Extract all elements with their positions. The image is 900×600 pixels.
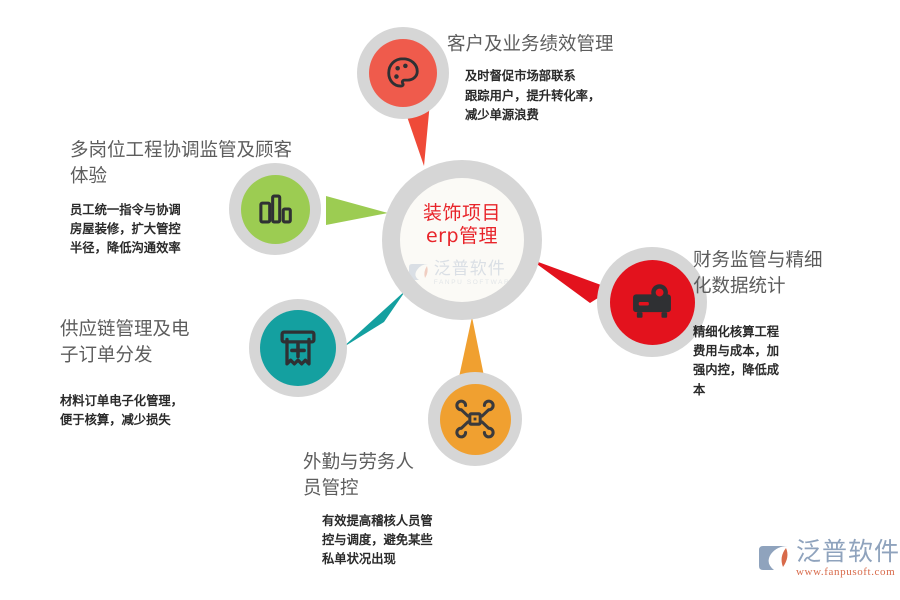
node-head-multipost: 多岗位工程协调监管及顾客 体验 [70,138,360,191]
text-block-multipost: 多岗位工程协调监管及顾客 体验 员工统一指令与协调 房屋装修，扩大管控 半径，降… [70,138,360,259]
text-block-supply: 供应链管理及电 子订单分发 材料订单电子化管理， 便于核算，减少损失 [60,317,270,430]
fanpu-logo-mark-icon [757,544,791,574]
drone-icon [455,399,495,439]
projector-icon [628,278,676,326]
node-disc-field [440,384,511,455]
fanpu-logo-mark [408,263,430,283]
hub-watermark: 泛普软件 FANPU SOFTWARE [400,261,524,287]
node-bubble-customer[interactable] [357,27,449,119]
node-bubble-finance[interactable] [597,247,707,357]
node-body-multipost: 员工统一指令与协调 房屋装修，扩大管控 半径，降低沟通效率 [70,201,360,259]
node-head-field: 外勤与劳务人 员管控 [303,450,518,503]
center-hub-inner: 装饰项目 erp管理 泛普软件 FANPU SOFTWARE [400,178,524,302]
receipt-plus-icon [276,326,320,370]
node-disc-finance [610,260,695,345]
center-hub-title: 装饰项目 erp管理 [423,202,501,248]
arrow-supply-to-hub [340,288,412,356]
center-hub: 装饰项目 erp管理 泛普软件 FANPU SOFTWARE [382,160,542,320]
fanpu-logo: 泛普软件 www.fanpusoft.com [757,539,900,578]
node-body-finance: 精细化核算工程 费用与成本，加 强内控，降低成 本 [693,323,898,401]
palette-icon [384,54,422,92]
node-head-supply: 供应链管理及电 子订单分发 [60,317,270,370]
node-head-finance: 财务监管与精细 化数据统计 [693,248,898,301]
node-head-customer: 客户及业务绩效管理 [447,32,687,58]
node-body-supply: 材料订单电子化管理， 便于核算，减少损失 [60,392,270,431]
hub-watermark-en: FANPU SOFTWARE [434,280,516,287]
node-disc-supply [260,310,336,386]
node-body-field: 有效提高稽核人员管 控与调度，避免某些 私单状况出现 [322,512,518,570]
infographic-canvas: 装饰项目 erp管理 泛普软件 FANPU SOFTWARE [0,0,900,600]
node-disc-customer [369,39,437,107]
fanpu-logo-url: www.fanpusoft.com [796,567,900,578]
text-block-customer: 客户及业务绩效管理 及时督促市场部联系 跟踪用户，提升转化率， 减少单源浪费 [447,32,687,126]
hub-watermark-cn: 泛普软件 [434,261,516,278]
text-block-finance: 财务监管与精细 化数据统计 精细化核算工程 费用与成本，加 强内控，降低成 本 [693,248,898,400]
fanpu-logo-cn: 泛普软件 [796,539,900,564]
node-body-customer: 及时督促市场部联系 跟踪用户，提升转化率， 减少单源浪费 [465,67,687,125]
text-block-field: 外勤与劳务人 员管控 有效提高稽核人员管 控与调度，避免某些 私单状况出现 [303,450,518,570]
